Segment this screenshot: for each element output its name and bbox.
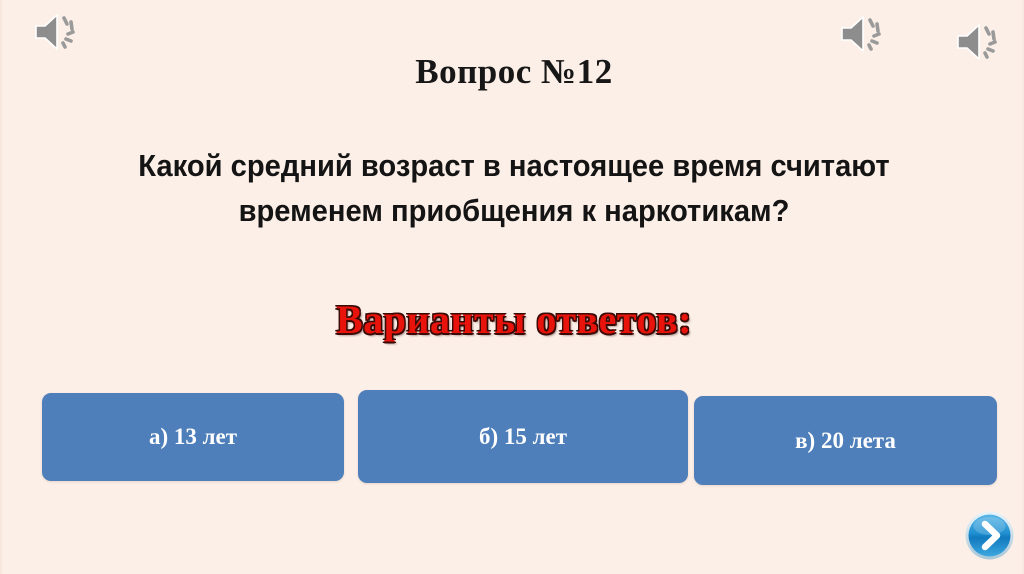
quiz-slide: Вопрос №12 Какой средний возраст в насто… [0,0,1024,574]
option-button-c[interactable]: в) 20 лета [694,396,997,485]
option-button-b[interactable]: б) 15 лет [358,390,688,483]
page-title: Вопрос №12 [2,52,1024,92]
question-line-2: временем приобщения к наркотикам? [91,189,937,234]
question-line-1: Какой средний возраст в настоящее время … [91,144,937,189]
question-text: Какой средний возраст в настоящее время … [91,144,937,234]
option-button-a[interactable]: а) 13 лет [42,393,344,481]
speaker-icon[interactable] [30,8,86,56]
speaker-icon[interactable] [836,10,892,58]
answers-heading: Варианты ответов: [2,296,1024,343]
next-button[interactable] [964,510,1015,561]
